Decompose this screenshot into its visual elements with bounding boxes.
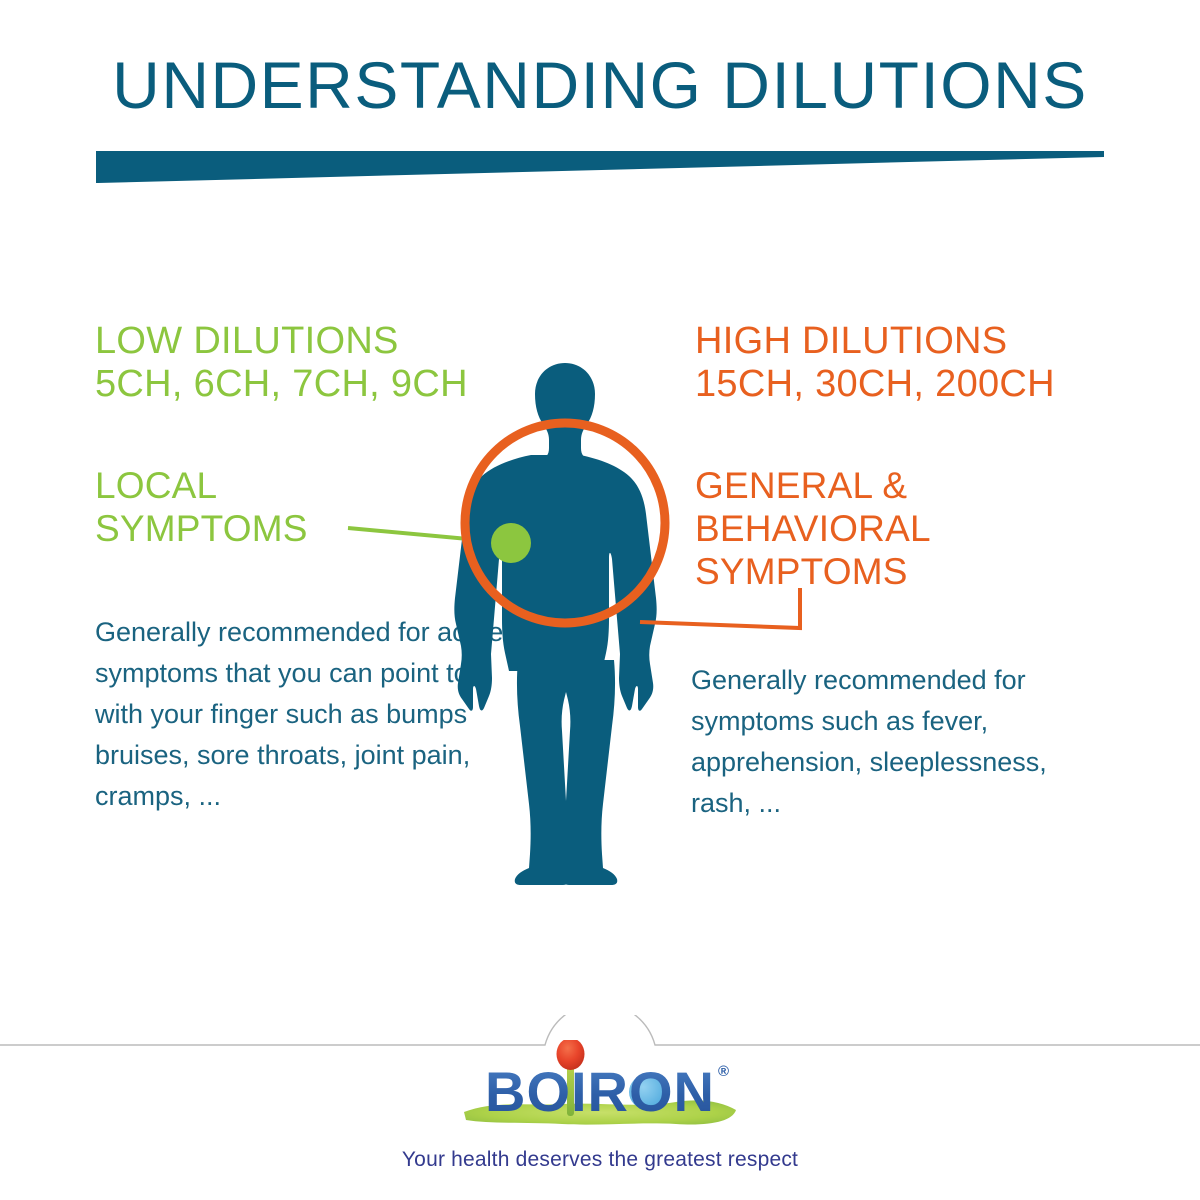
high-dilutions-title: HIGH DILUTIONS: [695, 320, 1007, 362]
local-symptoms-connector-line: [348, 528, 512, 543]
local-symptoms-line2: SYMPTOMS: [95, 508, 308, 551]
low-dilutions-values: 5CH, 6CH, 7CH, 9CH: [95, 363, 468, 406]
boiron-logo[interactable]: BOIRON ®: [0, 1040, 1200, 1145]
low-dilutions-title: LOW DILUTIONS: [95, 320, 399, 362]
general-symptoms-description: Generally recommended for symptoms such …: [691, 660, 1111, 824]
general-symptoms-line1: GENERAL &: [695, 465, 931, 508]
local-symptoms-description: Generally recommended for acute symptoms…: [95, 612, 515, 817]
boiron-wordmark: BOIRON: [485, 1060, 715, 1123]
registered-trademark-mark: ®: [718, 1063, 729, 1080]
local-symptoms-label: LOCAL SYMPTOMS: [95, 465, 308, 551]
local-symptoms-line1: LOCAL: [95, 465, 308, 508]
torso-highlight-circle: [465, 423, 665, 623]
general-symptoms-line2: BEHAVIORAL: [695, 508, 931, 551]
low-dilutions-heading: LOW DILUTIONS 5CH, 6CH, 7CH, 9CH: [95, 320, 468, 405]
general-symptoms-line3: SYMPTOMS: [695, 551, 931, 594]
local-symptom-marker-dot: [491, 523, 531, 563]
high-dilutions-heading: HIGH DILUTIONS 15CH, 30CH, 200CH: [695, 320, 1055, 405]
brand-tagline: Your health deserves the greatest respec…: [0, 1148, 1200, 1172]
general-symptoms-connector-line: [640, 588, 800, 628]
page-title: UNDERSTANDING DILUTIONS: [0, 52, 1200, 118]
general-symptoms-label: GENERAL & BEHAVIORAL SYMPTOMS: [695, 465, 931, 594]
high-dilutions-values: 15CH, 30CH, 200CH: [695, 363, 1055, 406]
boiron-logo-artwork: BOIRON ®: [450, 1040, 750, 1140]
infographic-page: UNDERSTANDING DILUTIONS LOW DILUTIONS 5C…: [0, 0, 1200, 1200]
title-underline-wedge: [96, 150, 1104, 186]
